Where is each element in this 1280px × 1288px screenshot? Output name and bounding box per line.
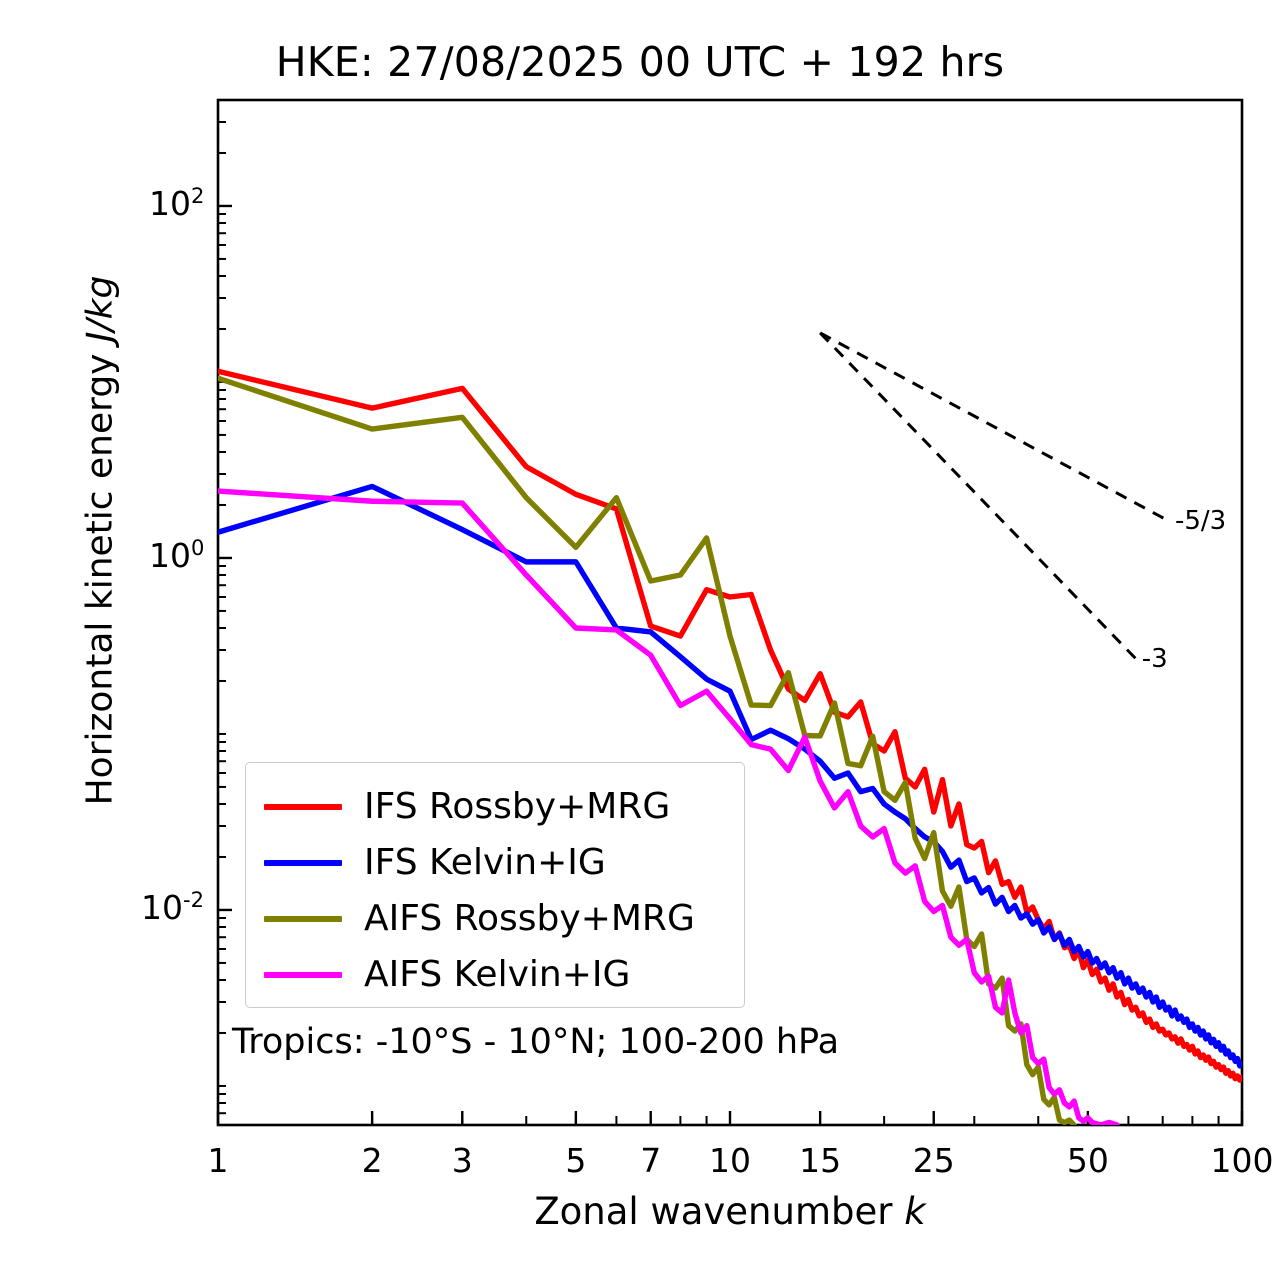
x-axis-label-text: Zonal wavenumber xyxy=(534,1190,904,1233)
x-tick-label: 5 xyxy=(565,1141,586,1180)
x-tick-label: 3 xyxy=(452,1141,473,1180)
x-tick-label: 15 xyxy=(799,1141,841,1180)
legend-label: IFS Rossby+MRG xyxy=(364,789,670,825)
legend-swatch-line xyxy=(264,916,342,922)
y-tick-label: 102 xyxy=(149,184,204,223)
y-axis-label-units: J/kg xyxy=(80,276,121,342)
legend-label: AIFS Kelvin+IG xyxy=(364,957,630,993)
y-axis-label-text: Horizontal kinetic energy xyxy=(80,342,121,805)
region-annotation: Tropics: -10°S - 10°N; 100-200 hPa xyxy=(232,1022,839,1062)
x-tick-label: 10 xyxy=(709,1141,751,1180)
legend-item-2[interactable]: AIFS Rossby+MRG xyxy=(264,889,695,949)
chart-legend: IFS Rossby+MRGIFS Kelvin+IGAIFS Rossby+M… xyxy=(245,762,745,1008)
x-tick-label: 2 xyxy=(362,1141,383,1180)
slope-label-1: -3 xyxy=(1142,644,1168,674)
legend-swatch-line xyxy=(264,972,342,978)
x-tick-label: 7 xyxy=(640,1141,661,1180)
x-axis-label: Zonal wavenumber k xyxy=(218,1190,1242,1233)
series-line-2 xyxy=(218,378,1074,1125)
legend-item-1[interactable]: IFS Kelvin+IG xyxy=(264,833,606,893)
y-tick-label: 10-2 xyxy=(141,888,204,927)
y-tick-label: 100 xyxy=(149,536,204,575)
legend-label: AIFS Rossby+MRG xyxy=(364,901,695,937)
x-tick-label: 100 xyxy=(1211,1141,1274,1180)
chart-page: HKE: 27/08/2025 00 UTC + 192 hrs Horizon… xyxy=(0,0,1280,1288)
legend-label: IFS Kelvin+IG xyxy=(364,845,606,881)
x-axis-label-symbol: k xyxy=(904,1190,925,1233)
x-tick-label: 25 xyxy=(913,1141,955,1180)
legend-item-3[interactable]: AIFS Kelvin+IG xyxy=(264,945,630,1005)
slope-label-0: -5/3 xyxy=(1175,506,1226,536)
x-tick-label: 50 xyxy=(1067,1141,1109,1180)
legend-item-0[interactable]: IFS Rossby+MRG xyxy=(264,777,670,837)
legend-swatch-line xyxy=(264,860,342,866)
slope-line-1 xyxy=(820,333,1136,659)
x-tick-label: 1 xyxy=(208,1141,229,1180)
y-axis-label: Horizontal kinetic energy J/kg xyxy=(80,181,121,901)
legend-swatch-line xyxy=(264,804,342,810)
slope-line-0 xyxy=(820,333,1169,521)
